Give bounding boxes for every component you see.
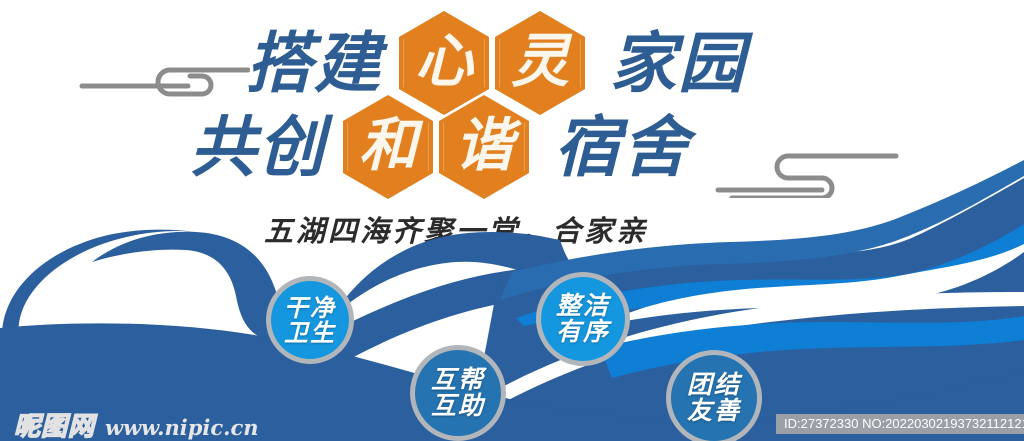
badge-line-2: 互助 — [431, 393, 485, 420]
value-badge-tidiness[interactable]: 整洁 有序 — [536, 272, 630, 366]
badge-line-2: 有序 — [556, 319, 610, 346]
value-badge-unity[interactable]: 团结 友善 — [666, 350, 762, 441]
wave-graphic — [0, 0, 1024, 441]
badge-line-1: 团结 — [687, 372, 741, 399]
poster-canvas: 搭建 心 灵 家园 共创 和 谐 宿舍 五湖四海齐聚一堂，合家亲 — [0, 0, 1024, 441]
value-badge-cleanliness[interactable]: 干净 卫生 — [266, 276, 354, 364]
badge-line-1: 整洁 — [556, 293, 610, 320]
asset-id-band: ID:27372330 NO:20220302193732112121 — [776, 414, 1024, 434]
badge-line-2: 友善 — [687, 398, 741, 425]
badge-line-1: 干净 — [284, 295, 336, 320]
badge-line-1: 互帮 — [431, 367, 485, 394]
badge-line-2: 卫生 — [284, 320, 336, 345]
value-badge-mutual-help[interactable]: 互帮 互助 — [410, 345, 506, 441]
